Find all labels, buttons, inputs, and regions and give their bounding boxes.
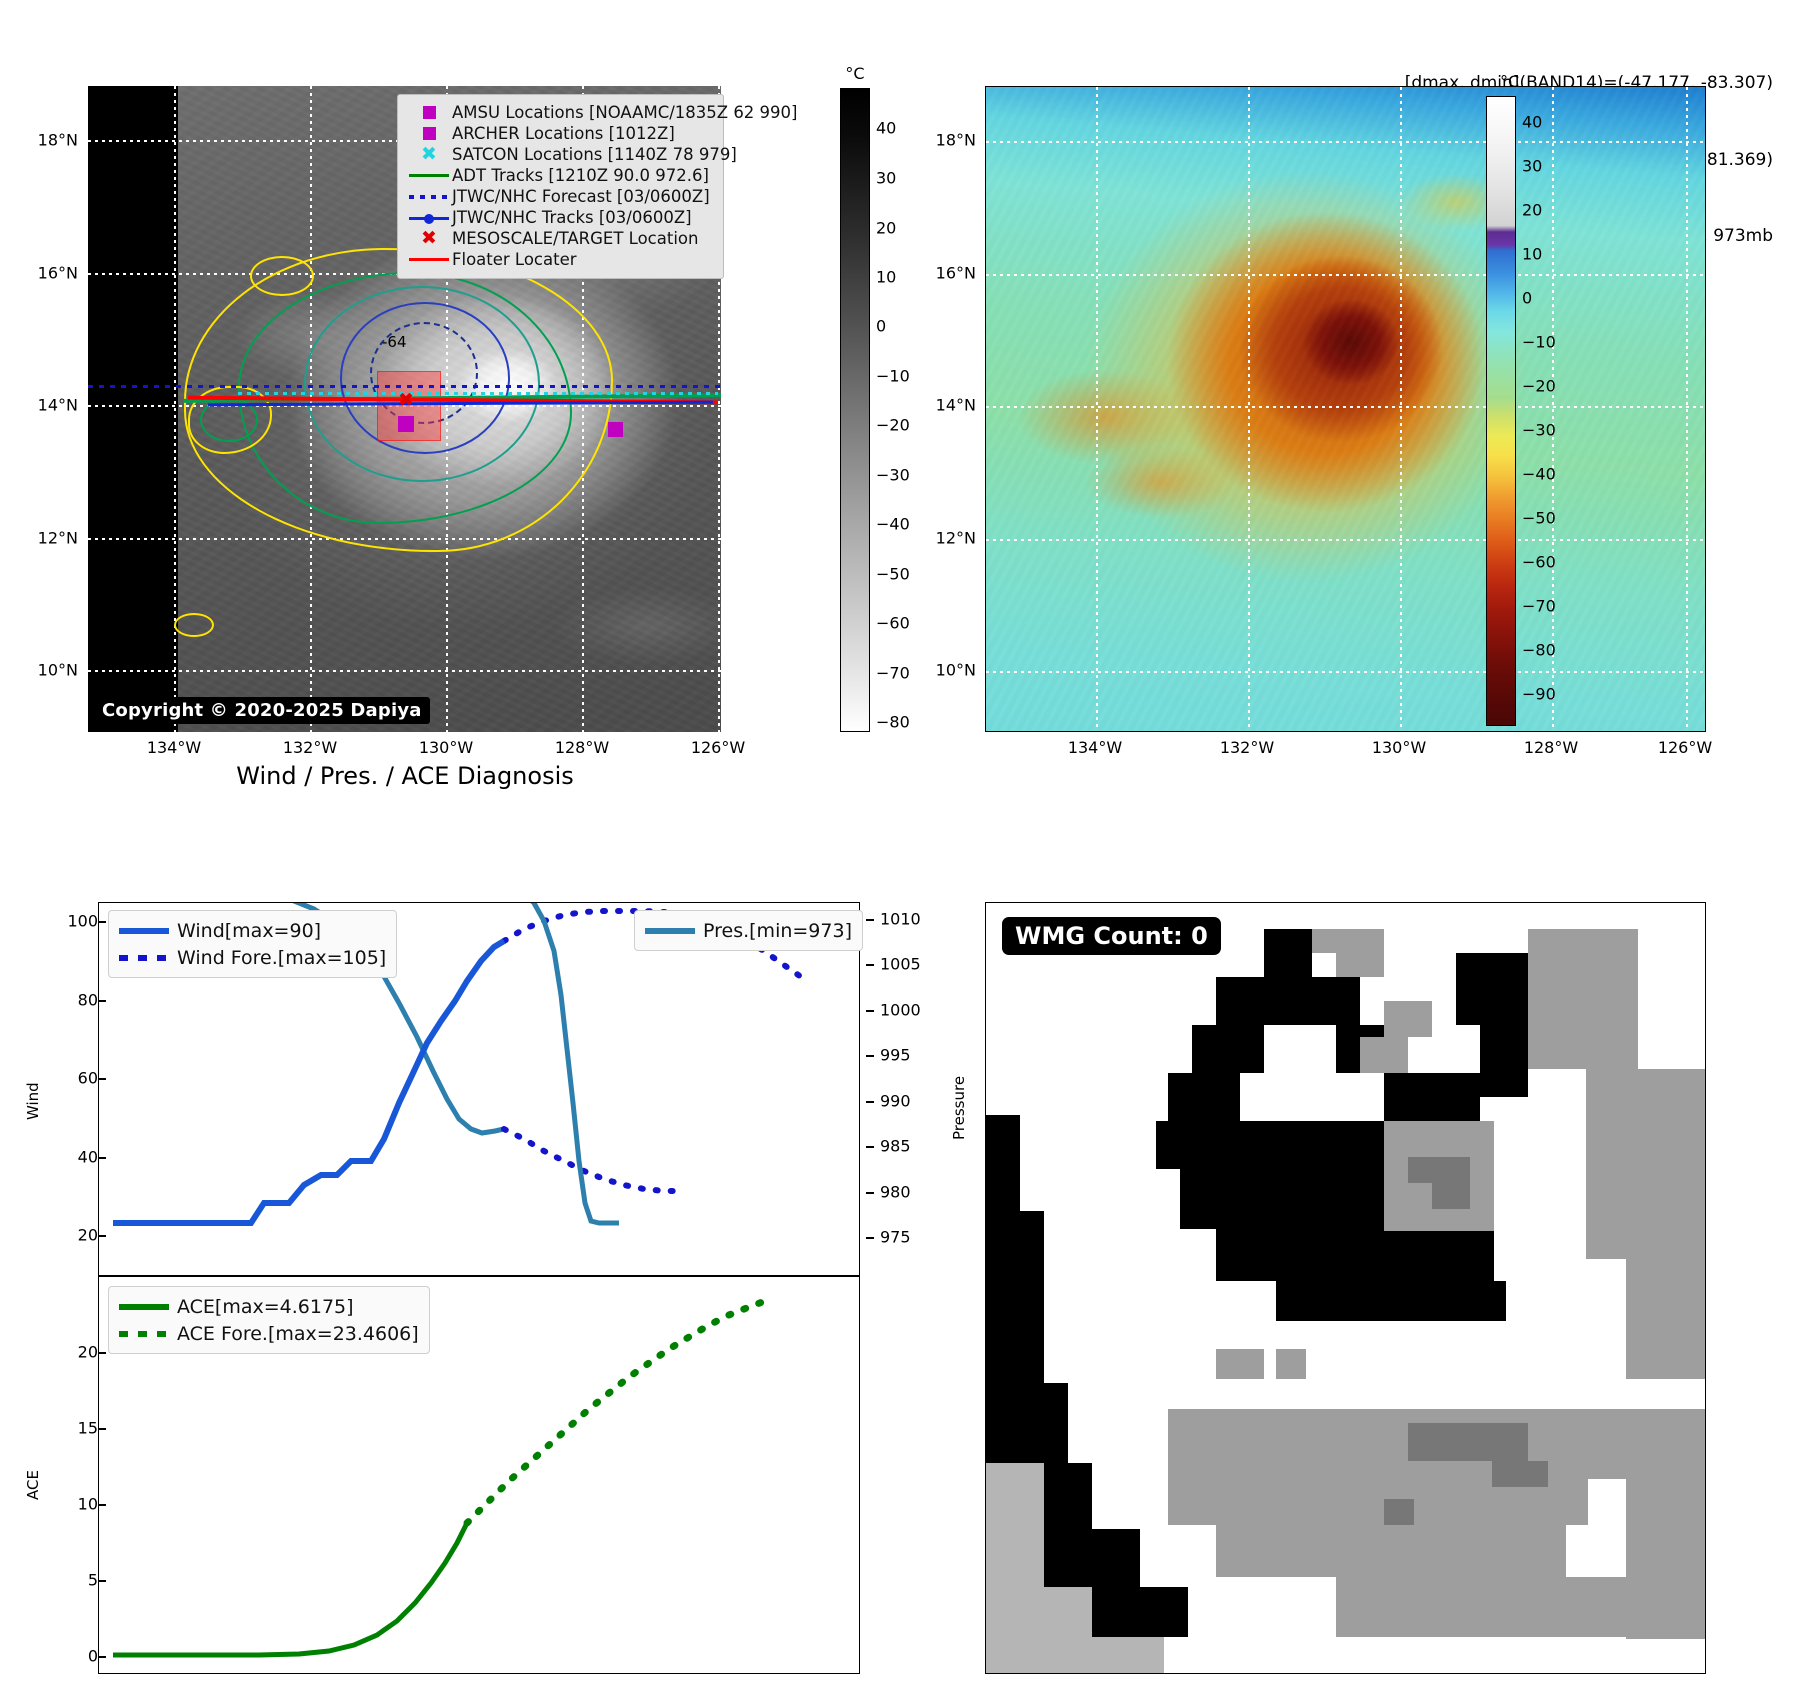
lat-tick-label: 14°N [38, 396, 78, 415]
lat-tick-label: 12°N [38, 529, 78, 548]
jtwc-track-line-marker-icon [406, 213, 452, 223]
ir-lon-axis: 134°W 132°W 130°W 128°W 126°W [88, 738, 721, 764]
amsu-square-icon [406, 106, 452, 119]
legend-label: SATCON Locations [1140Z 78 979] [452, 145, 737, 164]
y2-tick-label: 990 [880, 1092, 911, 1111]
ir-lat-axis: 18°N 16°N 14°N 12°N 10°N [12, 86, 82, 732]
awv-colorbar[interactable] [1486, 96, 1516, 726]
lat-tick-label: 14°N [936, 396, 976, 415]
pressure-chart-legend: Pres.[min=973] [634, 910, 863, 951]
legend-label: ACE Fore.[max=23.4606] [177, 1323, 419, 1345]
archer-square-icon [406, 127, 452, 140]
legend-item[interactable]: Wind[max=90] [119, 917, 386, 944]
grid-line-lon-134 [174, 86, 176, 732]
legend-item[interactable]: AMSU Locations [NOAAMC/1835Z 62 990] [406, 102, 715, 123]
grid-line-lat-14 [986, 406, 1705, 408]
cb-tick: −50 [1522, 509, 1556, 528]
legend-label: ACE[max=4.6175] [177, 1296, 354, 1318]
cb-tick: −20 [1522, 377, 1556, 396]
cb-tick: −30 [876, 466, 910, 485]
cb-tick: −10 [1522, 333, 1556, 352]
y-tick-label: 40 [78, 1148, 98, 1167]
awv-imagery [986, 87, 1705, 731]
cb-tick: 0 [876, 317, 886, 336]
cb-tick: −60 [876, 614, 910, 633]
cb-tick: −50 [876, 565, 910, 584]
pressure-axis-label: Pressure [950, 1076, 968, 1140]
wind-chart-legend: Wind[max=90] Wind Fore.[max=105] [108, 910, 397, 978]
wind-series [113, 941, 504, 1223]
wind-axis-label: Wind [24, 1082, 42, 1120]
jtwc-nhc-forecast-track [88, 385, 721, 388]
cb-tick: 10 [876, 268, 896, 287]
cb-tick: 40 [876, 119, 896, 138]
awv-satellite-map[interactable] [985, 86, 1706, 732]
grid-line-lon-130 [1400, 87, 1402, 731]
ace-line-icon [119, 1304, 177, 1310]
y2-tick-label: 1000 [880, 1001, 921, 1020]
satcon-track-markers [238, 392, 718, 395]
floater-line-icon [406, 258, 452, 261]
y2-tick-label: 980 [880, 1183, 911, 1202]
ir-map-legend: AMSU Locations [NOAAMC/1835Z 62 990] ARC… [397, 94, 724, 279]
legend-label: AMSU Locations [NOAAMC/1835Z 62 990] [452, 103, 798, 122]
grid-line-lat-12 [986, 539, 1705, 541]
legend-label: Wind Fore.[max=105] [177, 947, 386, 969]
legend-label: ARCHER Locations [1012Z] [452, 124, 675, 143]
legend-item[interactable]: ARCHER Locations [1012Z] [406, 123, 715, 144]
grid-line-lon-126 [1686, 87, 1688, 731]
legend-item[interactable]: JTWC/NHC Forecast [03/0600Z] [406, 186, 715, 207]
ir-colorbar[interactable] [840, 88, 870, 732]
cb-tick: −80 [876, 713, 910, 732]
cb-tick: −10 [876, 367, 910, 386]
ace-forecast-dotted-icon [119, 1331, 177, 1337]
lat-tick-label: 16°N [38, 264, 78, 283]
legend-item[interactable]: ACE Fore.[max=23.4606] [119, 1320, 419, 1347]
contour-yellow-south-blob [174, 613, 214, 637]
wmg-count-badge: WMG Count: 0 [1002, 917, 1221, 955]
cb-tick: −40 [876, 515, 910, 534]
cb-tick: −60 [1522, 553, 1556, 572]
pressure-y-axis: 1010 1005 1000 995 990 985 980 975 [866, 902, 956, 1276]
y-tick-label: 60 [78, 1069, 98, 1088]
y-tick-label: 100 [67, 912, 98, 931]
lat-tick-label: 10°N [38, 661, 78, 680]
y-tick-label: 20 [78, 1343, 98, 1362]
lon-tick-label: 130°W [1372, 738, 1426, 757]
grid-line-lon-134 [1096, 87, 1098, 731]
lat-tick-label: 12°N [936, 529, 976, 548]
wmg-cloud-classification-panel[interactable]: WMG Count: 0 [985, 902, 1706, 1674]
satcon-x-icon: ✖ [406, 145, 452, 164]
cb-tick: −40 [1522, 465, 1556, 484]
legend-label: Wind[max=90] [177, 920, 321, 942]
y2-tick-label: 995 [880, 1046, 911, 1065]
lat-tick-label: 18°N [936, 131, 976, 150]
ace-forecast-series [467, 1301, 765, 1523]
dashboard-root: GOES-18 BAND14-DIAS MESOSCALE Time: 2025… [0, 0, 1797, 1690]
lon-tick-label: 126°W [691, 738, 745, 757]
contour-yellow-nw-blob [250, 256, 314, 296]
cb-tick: 40 [1522, 113, 1542, 132]
ace-series [113, 1523, 467, 1655]
ir-colorbar-title: °C [845, 64, 864, 83]
y-tick-label: 15 [78, 1419, 98, 1438]
grid-line-lon-132 [1248, 87, 1250, 731]
wind-forecast-dotted-icon [119, 955, 177, 961]
lon-tick-label: 134°W [1068, 738, 1122, 757]
legend-label: ADT Tracks [1210Z 90.0 972.6] [452, 166, 709, 185]
cb-tick: −90 [1522, 685, 1556, 704]
cb-tick: −70 [1522, 597, 1556, 616]
lat-tick-label: 10°N [936, 661, 976, 680]
y-tick-label: 10 [78, 1495, 98, 1514]
y-tick-label: 80 [78, 991, 98, 1010]
lon-tick-label: 134°W [147, 738, 201, 757]
awv-lon-axis: 134°W 132°W 130°W 128°W 126°W [985, 738, 1706, 764]
cb-tick: 30 [876, 169, 896, 188]
legend-label: MESOSCALE/TARGET Location [452, 229, 698, 248]
lon-tick-label: 128°W [555, 738, 609, 757]
legend-item[interactable]: Pres.[min=973] [645, 917, 852, 944]
pressure-line-icon [645, 928, 703, 934]
lat-tick-label: 18°N [38, 131, 78, 150]
legend-label: Pres.[min=973] [703, 920, 852, 942]
grid-line-lat-18 [986, 141, 1705, 143]
legend-item[interactable]: ✖ SATCON Locations [1140Z 78 979] [406, 144, 715, 165]
ace-axis-label: ACE [24, 1470, 42, 1500]
legend-label: JTWC/NHC Tracks [03/0600Z] [452, 208, 692, 227]
awv-colorbar-ticks: 40 30 20 10 0 −10 −20 −30 −40 −50 −60 −7… [1522, 96, 1592, 726]
mesoscale-target-x-icon[interactable]: ✖ [398, 389, 414, 411]
legend-item[interactable]: ✖ MESOSCALE/TARGET Location [406, 228, 715, 249]
archer-location-marker[interactable] [398, 416, 414, 432]
diagnosis-title: Wind / Pres. / ACE Diagnosis [236, 762, 574, 790]
amsu-location-marker[interactable] [608, 422, 623, 437]
lon-tick-label: 130°W [419, 738, 473, 757]
legend-label: Floater Locater [452, 250, 577, 269]
awv-texture [986, 87, 1705, 731]
y-tick-label: 5 [88, 1571, 98, 1590]
lon-tick-label: 132°W [1220, 738, 1274, 757]
cb-tick: 20 [876, 219, 896, 238]
grid-line-lat-10 [88, 670, 721, 672]
lon-tick-label: 128°W [1524, 738, 1578, 757]
cb-tick: −80 [1522, 641, 1556, 660]
jtwc-forecast-dotted-icon [406, 195, 452, 199]
cb-tick: −20 [876, 416, 910, 435]
grid-line-lat-16 [986, 274, 1705, 276]
legend-item[interactable]: Floater Locater [406, 249, 715, 270]
lat-tick-label: 16°N [936, 264, 976, 283]
cb-tick: −30 [1522, 421, 1556, 440]
legend-item[interactable]: ADT Tracks [1210Z 90.0 972.6] [406, 165, 715, 186]
y2-tick-label: 1010 [880, 910, 921, 929]
y2-tick-label: 975 [880, 1228, 911, 1247]
lon-tick-label: 126°W [1658, 738, 1712, 757]
cb-tick: 10 [1522, 245, 1542, 264]
legend-item[interactable]: ACE[max=4.6175] [119, 1293, 419, 1320]
y2-tick-label: 1005 [880, 955, 921, 974]
y2-tick-label: 985 [880, 1137, 911, 1156]
grid-line-lat-10 [986, 671, 1705, 673]
legend-item[interactable]: JTWC/NHC Tracks [03/0600Z] [406, 207, 715, 228]
copyright-notice: Copyright © 2020-2025 Dapiya [94, 697, 430, 724]
pressure-series-descent [504, 903, 619, 1223]
y-tick-label: 20 [78, 1226, 98, 1245]
wind-line-icon [119, 928, 177, 934]
cb-tick: 0 [1522, 289, 1532, 308]
pressure-forecast-series [504, 1129, 684, 1191]
cb-tick: −70 [876, 664, 910, 683]
cb-tick: 20 [1522, 201, 1542, 220]
awv-colorbar-title: °C [1500, 72, 1519, 91]
lon-tick-label: 132°W [283, 738, 337, 757]
ace-chart-legend: ACE[max=4.6175] ACE Fore.[max=23.4606] [108, 1286, 430, 1354]
legend-label: JTWC/NHC Forecast [03/0600Z] [452, 187, 710, 206]
legend-item[interactable]: Wind Fore.[max=105] [119, 944, 386, 971]
mesoscale-x-icon: ✖ [406, 229, 452, 248]
adt-line-icon [406, 174, 452, 177]
y-tick-label: 0 [88, 1647, 98, 1666]
awv-lat-axis: 18°N 16°N 14°N 12°N 10°N [910, 86, 980, 732]
cb-tick: 30 [1522, 157, 1542, 176]
contour-label-64: -64 [382, 333, 407, 351]
